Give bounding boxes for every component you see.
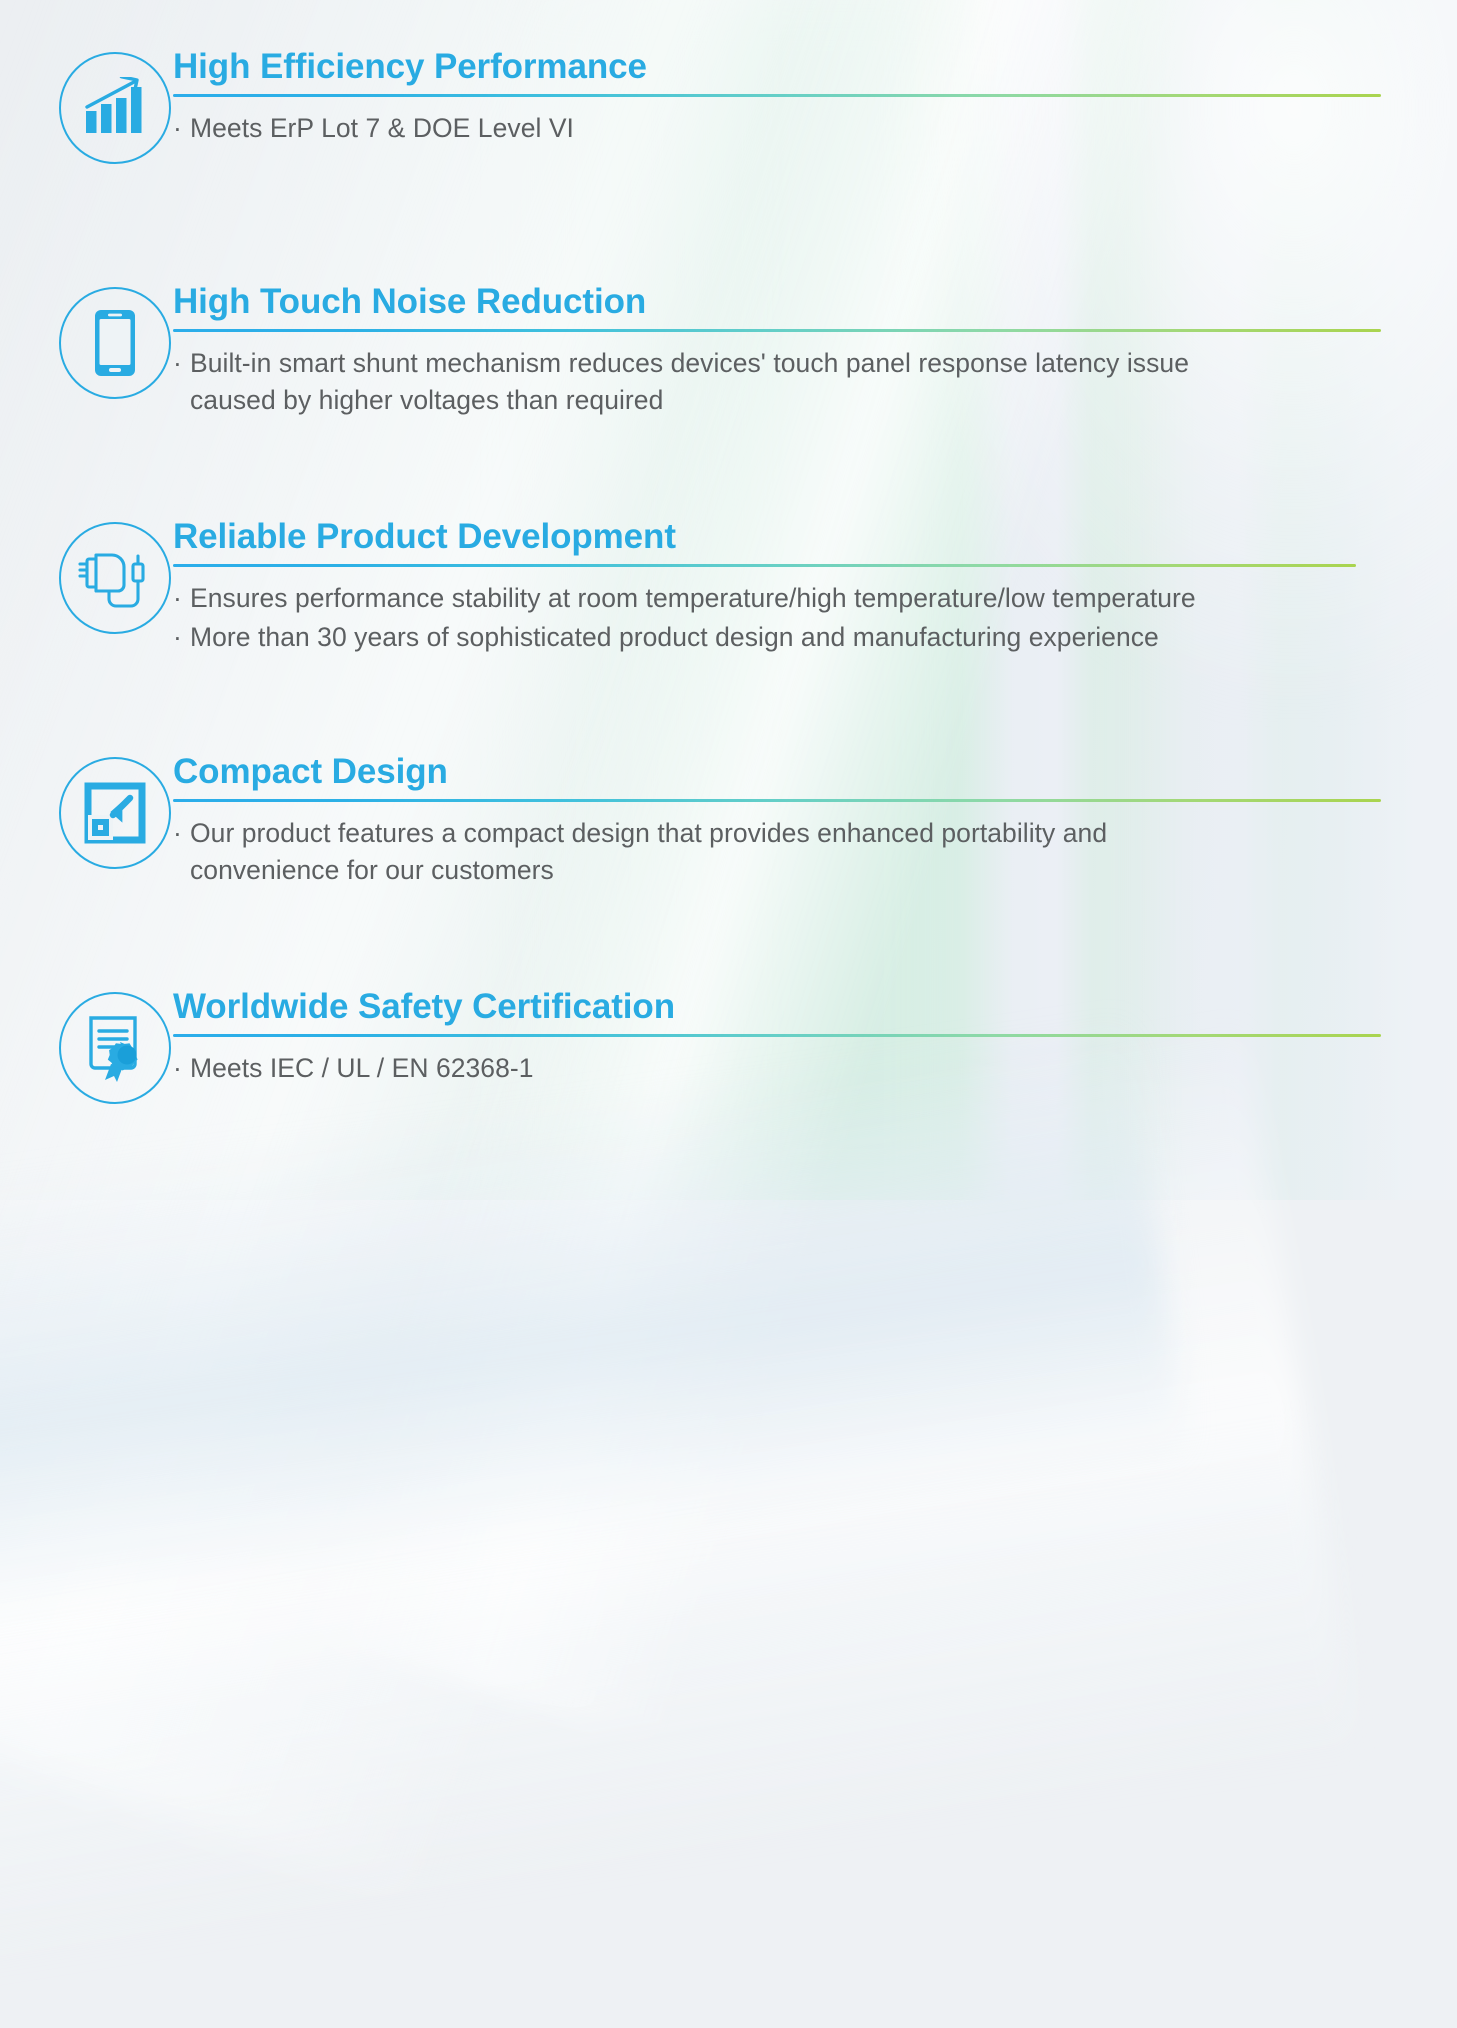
bullet-text: Built-in smart shunt mechanism reduces d… [190,348,1189,416]
feature-title: Compact Design [173,753,1381,791]
feature-divider [173,94,1381,97]
feature-icon-container [56,753,173,869]
feature-body: Reliable Product Development ·Ensures pe… [173,518,1396,657]
bullet-text: Our product features a compact design th… [190,818,1107,886]
bullet-marker: · [173,110,182,148]
bullet-marker: · [173,619,182,657]
bullet-text: Meets ErP Lot 7 & DOE Level VI [190,113,574,143]
bar-chart-growth-icon [59,52,171,164]
feature-bullet-list: ·Meets IEC / UL / EN 62368-1 [173,1050,1381,1088]
bullet-marker: · [173,815,182,853]
feature-item-high-efficiency-performance: High Efficiency Performance ·Meets ErP L… [56,48,1381,164]
smartphone-icon [59,287,171,399]
feature-item-worldwide-safety-certification: Worldwide Safety Certification ·Meets IE… [56,988,1381,1104]
feature-body: High Efficiency Performance ·Meets ErP L… [173,48,1381,147]
feature-icon-container [56,283,173,399]
bullet-marker: · [173,345,182,383]
feature-bullet: ·Ensures performance stability at room t… [173,580,1396,618]
feature-divider [173,564,1356,567]
feature-body: Worldwide Safety Certification ·Meets IE… [173,988,1381,1087]
feature-title: Reliable Product Development [173,518,1396,556]
certificate-seal-icon [59,992,171,1104]
bullet-marker: · [173,580,182,618]
feature-item-compact-design: Compact Design ·Our product features a c… [56,753,1381,890]
feature-icon-container [56,518,173,634]
power-adapter-icon [59,522,171,634]
feature-body: Compact Design ·Our product features a c… [173,753,1381,890]
feature-icon-container [56,988,173,1104]
feature-bullet: ·More than 30 years of sophisticated pro… [173,619,1396,657]
bullet-text: Meets IEC / UL / EN 62368-1 [190,1053,534,1083]
feature-item-high-touch-noise-reduction: High Touch Noise Reduction ·Built-in sma… [56,283,1381,420]
feature-divider [173,1034,1381,1037]
feature-bullet: ·Our product features a compact design t… [173,815,1381,890]
feature-body: High Touch Noise Reduction ·Built-in sma… [173,283,1381,420]
feature-bullet: ·Meets ErP Lot 7 & DOE Level VI [173,110,1381,148]
feature-title: Worldwide Safety Certification [173,988,1381,1026]
compact-resize-icon [59,757,171,869]
feature-bullet-list: ·Built-in smart shunt mechanism reduces … [173,345,1381,420]
feature-list-page: High Efficiency Performance ·Meets ErP L… [0,0,1457,1200]
bullet-text: Ensures performance stability at room te… [190,583,1196,613]
feature-bullet-list: ·Our product features a compact design t… [173,815,1381,890]
feature-icon-container [56,48,173,164]
bullet-text: More than 30 years of sophisticated prod… [190,622,1159,652]
feature-title: High Touch Noise Reduction [173,283,1381,321]
feature-bullet: ·Built-in smart shunt mechanism reduces … [173,345,1381,420]
feature-title: High Efficiency Performance [173,48,1381,86]
feature-divider [173,329,1381,332]
feature-bullet-list: ·Ensures performance stability at room t… [173,580,1396,657]
bullet-marker: · [173,1050,182,1088]
feature-item-reliable-product-development: Reliable Product Development ·Ensures pe… [56,518,1396,657]
feature-bullet: ·Meets IEC / UL / EN 62368-1 [173,1050,1381,1088]
feature-bullet-list: ·Meets ErP Lot 7 & DOE Level VI [173,110,1381,148]
feature-divider [173,799,1381,802]
